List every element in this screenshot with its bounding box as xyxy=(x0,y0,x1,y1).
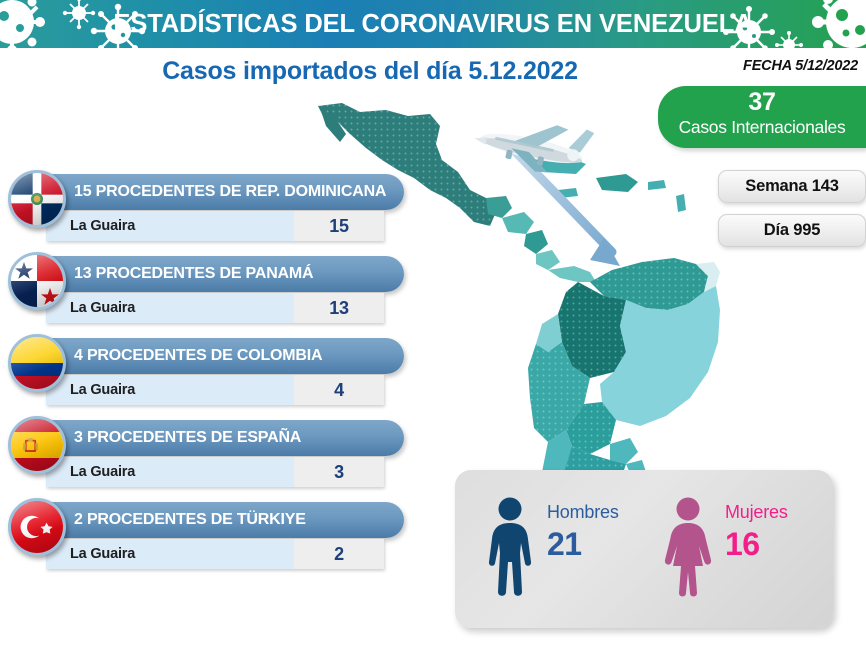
gender-text-women: Mujeres 16 xyxy=(725,502,823,565)
header-bar: ESTADÍSTICAS DEL CORONAVIRUS EN VENEZUEL… xyxy=(0,0,866,48)
map-country-panama xyxy=(548,266,596,282)
map-country-puerto-rico xyxy=(648,180,666,190)
country-row-turkiye: 2 PROCEDENTES DE TÜRKIYE La Guaira 2 xyxy=(0,498,415,576)
international-cases-value: 37 xyxy=(658,89,866,116)
city-count-row: La Guaira 4 xyxy=(46,375,384,405)
flag-panama-icon xyxy=(8,252,66,310)
gender-value: 21 xyxy=(547,523,645,565)
city-count: 13 xyxy=(294,293,384,323)
gender-label: Mujeres xyxy=(725,502,823,523)
male-figure-icon xyxy=(483,496,537,600)
week-pill: Semana 143 xyxy=(718,170,866,203)
city-count: 2 xyxy=(294,539,384,569)
flag-spain-icon xyxy=(8,416,66,474)
flag-dominican-republic-icon xyxy=(8,170,66,228)
city-count: 4 xyxy=(294,375,384,405)
country-headline: 2 PROCEDENTES DE TÜRKIYE xyxy=(46,502,404,538)
city-name: La Guaira xyxy=(46,211,294,241)
country-row-panama: 13 PROCEDENTES DE PANAMÁ La Guaira 13 xyxy=(0,252,415,330)
international-cases-label: Casos Internacionales xyxy=(658,116,866,138)
country-headline: 15 PROCEDENTES DE REP. DOMINICANA xyxy=(46,174,404,210)
flag-colombia-icon xyxy=(8,334,66,392)
city-count: 15 xyxy=(294,211,384,241)
city-count-row: La Guaira 15 xyxy=(46,211,384,241)
country-row-dominican-republic: 15 PROCEDENTES DE REP. DOMINICANA La Gua… xyxy=(0,170,415,248)
page-title: ESTADÍSTICAS DEL CORONAVIRUS EN VENEZUEL… xyxy=(0,0,866,48)
country-row-colombia: 4 PROCEDENTES DE COLOMBIA La Guaira 4 xyxy=(0,334,415,412)
country-headline: 3 PROCEDENTES DE ESPAÑA xyxy=(46,420,404,456)
city-name: La Guaira xyxy=(46,457,294,487)
day-pill: Día 995 xyxy=(718,214,866,247)
flag-dominican-republic-svg xyxy=(11,173,63,225)
international-cases-badge: 37 Casos Internacionales xyxy=(658,86,866,148)
city-count-row: La Guaira 13 xyxy=(46,293,384,323)
date-stamp: FECHA 5/12/2022 xyxy=(743,58,858,74)
flag-panama-svg xyxy=(11,255,63,307)
flag-turkiye-icon xyxy=(8,498,66,556)
map-country-hispaniola xyxy=(596,174,638,192)
city-count-row: La Guaira 2 xyxy=(46,539,384,569)
gender-panel: Hombres 21 Mujeres 16 xyxy=(455,470,833,628)
gender-cell-women: Mujeres 16 xyxy=(645,496,823,604)
flag-colombia-svg xyxy=(11,337,63,389)
gender-label: Hombres xyxy=(547,502,645,523)
map-country-costa-rica xyxy=(536,250,560,270)
flag-spain-svg xyxy=(11,419,63,471)
country-row-spain: 3 PROCEDENTES DE ESPAÑA La Guaira 3 xyxy=(0,416,415,494)
city-name: La Guaira xyxy=(46,293,294,323)
country-headline: 4 PROCEDENTES DE COLOMBIA xyxy=(46,338,404,374)
country-headline: 13 PROCEDENTES DE PANAMÁ xyxy=(46,256,404,292)
female-figure-icon xyxy=(661,496,715,600)
flag-turkiye-svg xyxy=(11,501,63,553)
city-name: La Guaira xyxy=(46,539,294,569)
city-count: 3 xyxy=(294,457,384,487)
city-name: La Guaira xyxy=(46,375,294,405)
gender-text-men: Hombres 21 xyxy=(547,502,645,565)
map-country-nicaragua xyxy=(524,230,548,254)
gender-value: 16 xyxy=(725,523,823,565)
subtitle: Casos importados del día 5.12.2022 xyxy=(0,57,740,86)
map-country-paraguay xyxy=(610,438,638,464)
city-count-row: La Guaira 3 xyxy=(46,457,384,487)
map-country-honduras xyxy=(502,212,534,234)
gender-cell-men: Hombres 21 xyxy=(467,496,645,604)
map-islands-lesser-antilles xyxy=(676,194,686,212)
